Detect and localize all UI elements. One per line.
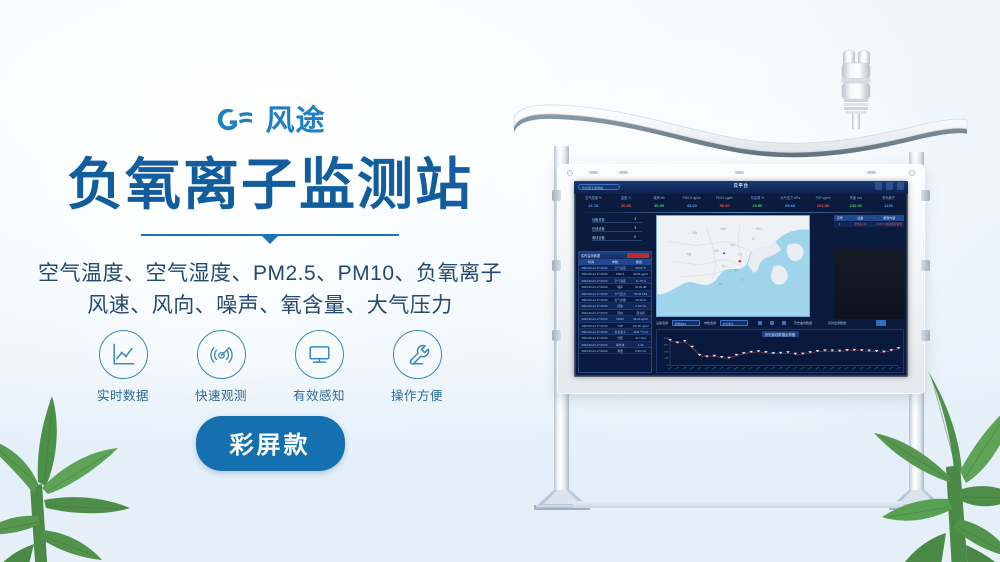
svg-text:1875: 1875 [664, 345, 669, 347]
metric-card: 风速 m/s230.00 [839, 195, 872, 212]
cloud-platform-dashboard: 负氧离子监测站 云平台 空气湿度 %41.78温度 ℃30.56噪声 dB40.… [574, 181, 908, 377]
svg-text:08:00: 08:00 [727, 367, 732, 370]
device-stat-row: 在线设备3 [592, 226, 642, 232]
metrics-divider [577, 212, 905, 213]
svg-text:0: 0 [667, 365, 668, 367]
table-cell: 99.66 KPa [630, 291, 651, 296]
table-cell: 2023-06-21 17:30:00 [579, 278, 610, 283]
svg-text:07:00: 07:00 [719, 367, 724, 370]
china-map[interactable]: 新疆内蒙古 西藏青海 山西山东 四川湖北 广东云南 辽宁黑龙江 [656, 215, 810, 317]
table-cell: 2023-06-21 17:30:00 [579, 284, 610, 289]
table-cell: 30.56 ℃ [630, 265, 651, 270]
metric-label: PM2.5 ug/m³ [675, 195, 708, 202]
param-select-label: 参数选择 [704, 321, 716, 325]
metric-label: PM10 ug/m³ [708, 195, 741, 202]
svg-text:02:00: 02:00 [682, 367, 687, 370]
metric-value: 99.66 [774, 202, 807, 210]
svg-text:00:00: 00:00 [668, 367, 673, 370]
table-cell: 氧气含量 [610, 297, 631, 302]
dashboard-header: 负氧离子监测站 云平台 [574, 181, 908, 194]
svg-text:19:00: 19:00 [808, 367, 813, 370]
metric-label: 噪声 dB [643, 195, 676, 202]
table-cell: 2023-06-21 17:30:00 [579, 310, 610, 315]
table-cell: 1.20 [630, 342, 651, 347]
decorative-leaves-left [0, 366, 158, 562]
export-data-button[interactable] [627, 253, 649, 257]
metric-value: 41.78 [577, 202, 610, 210]
table-cell: 雨量 [610, 348, 631, 353]
toolbar-icon-3[interactable] [897, 182, 904, 190]
range-radio-week[interactable] [770, 321, 774, 325]
metric-value: 101.00 [807, 202, 840, 210]
metric-value: 230.00 [839, 202, 872, 210]
metric-value: 56.00 [708, 202, 741, 210]
svg-text:1250: 1250 [664, 352, 669, 354]
table-cell: 西北风 [630, 310, 651, 315]
metric-value: 43.00 [675, 202, 708, 210]
legend-realtime: 实时监测数据 [828, 321, 846, 325]
table-cell: 紫外线 [610, 342, 631, 347]
svg-text:16:00: 16:00 [786, 367, 791, 370]
monitor-screen-icon [295, 330, 344, 379]
table-body: 2023-06-21 17:30:00空气温度30.56 ℃2023-06-21… [579, 265, 651, 372]
metric-card: 负氧离子1196 [872, 195, 905, 212]
svg-text:625: 625 [665, 358, 669, 360]
param-select[interactable]: 负氧离子 [720, 320, 748, 326]
metric-card: PM10 ug/m³56.00 [708, 195, 741, 212]
svg-text:2500: 2500 [664, 338, 669, 340]
table-cell: 2023-06-21 17:30:00 [579, 303, 610, 308]
metric-label: 温度 ℃ [610, 195, 643, 202]
divider-triangle-icon [262, 236, 278, 244]
svg-text:12:00: 12:00 [756, 367, 761, 370]
metric-card: 氧含量 %20.90 [741, 195, 774, 212]
alert-column-header: 序号 [834, 215, 846, 221]
station-tag[interactable]: 负氧离子监测站 [578, 184, 620, 190]
table-cell: 空气温度 [610, 265, 631, 270]
svg-text:20:00: 20:00 [815, 367, 820, 370]
toolbar-icon-2[interactable] [886, 182, 893, 190]
metric-card: 空气湿度 %41.78 [577, 195, 610, 212]
feature-item-effective-sensing[interactable]: 有效感知 [286, 330, 352, 404]
page-title: 负氧离子监测站 [0, 155, 540, 214]
subtitle-line-1: 空气温度、空气湿度、PM2.5、PM10、负氧离子 [0, 258, 540, 290]
title-divider [0, 234, 540, 244]
device-stat-row: 设备总数3 [592, 217, 642, 223]
svg-text:01:00: 01:00 [675, 367, 680, 370]
svg-text:03:00: 03:00 [690, 367, 695, 370]
metric-card: 温度 ℃30.56 [610, 195, 643, 212]
table-cell: 101.00 ug/m³ [630, 323, 651, 328]
wrench-icon [393, 330, 442, 379]
table-cell: 11.7 klux [630, 335, 651, 340]
svg-text:05:00: 05:00 [704, 367, 709, 370]
metric-label: 大气压力 KPa [774, 195, 807, 202]
svg-text:15:00: 15:00 [778, 367, 783, 370]
decorative-leaves-right [848, 357, 1000, 562]
feature-label: 有效感知 [293, 385, 345, 404]
toolbar-icon-1[interactable] [875, 182, 882, 190]
realtime-data-table: 实时监测数据 时间参数数值 2023-06-21 17:30:00空气温度30.… [578, 251, 652, 373]
feature-label: 操作方便 [391, 385, 443, 404]
table-cell: 1196 个/cm³ [630, 329, 651, 334]
table-cell: 2023-06-21 17:30:00 [579, 323, 610, 328]
metric-label: 风速 m/s [839, 195, 872, 202]
alerts-column-headers: 序号设备报警内容 [834, 215, 904, 221]
dashboard-screen[interactable]: 负氧离子监测站 云平台 空气湿度 %41.78温度 ℃30.56噪声 dB40.… [574, 181, 908, 377]
device-stat-row: 离线设备0 [592, 235, 642, 241]
alert-column-header: 报警内容 [875, 215, 904, 221]
wave-canopy [510, 98, 970, 168]
table-cell: TSP [610, 323, 631, 328]
table-cell: 0.00 mm [630, 348, 651, 353]
radar-signal-icon [197, 330, 246, 379]
svg-text:18:00: 18:00 [800, 367, 805, 370]
metric-cards-row: 空气湿度 %41.78温度 ℃30.56噪声 dB40.99PM2.5 ug/m… [577, 195, 905, 212]
metric-value: 20.90 [741, 202, 774, 210]
table-cell: PM2.5 [610, 271, 631, 276]
table-cell: 负氧离子 [610, 329, 631, 334]
table-cell: 空气湿度 [610, 278, 631, 283]
svg-text:21:00: 21:00 [822, 367, 827, 370]
metric-card: PM2.5 ug/m³43.00 [675, 195, 708, 212]
alert-cell: PM2.5 浓度超标报警 [875, 222, 904, 227]
table-cell: 43.00 ug/m³ [630, 271, 651, 276]
feature-label: 快速观测 [195, 385, 247, 404]
table-cell: 2023-06-21 17:30:00 [579, 265, 610, 270]
svg-text:23:00: 23:00 [837, 367, 842, 370]
metric-value: 1196 [872, 202, 905, 210]
alert-cell: 监测站 01 [846, 222, 875, 227]
table-cell: 2023-06-21 17:30:00 [579, 297, 610, 302]
svg-text:四川: 四川 [722, 265, 726, 268]
color-screen-model-button[interactable]: 彩屏款 [196, 416, 345, 471]
dashboard-toolbar [875, 182, 904, 190]
alert-row: 1监测站 01PM2.5 浓度超标报警 [834, 222, 904, 227]
metric-label: 氧含量 % [741, 195, 774, 202]
svg-text:09:00: 09:00 [734, 367, 739, 370]
table-cell: 风速 [610, 303, 631, 308]
cabinet-top-fittings [567, 169, 915, 176]
metric-label: 空气湿度 % [577, 195, 610, 202]
table-cell: 2023-06-21 17:30:00 [579, 271, 610, 276]
feature-item-easy-operation[interactable]: 操作方便 [384, 330, 450, 404]
svg-text:11:00: 11:00 [749, 367, 754, 370]
table-cell: 2023-06-21 17:30:00 [579, 291, 610, 296]
device-stats-panel: 设备总数3在线设备3离线设备0 [580, 217, 648, 247]
brand-logo: 风途 [0, 104, 540, 138]
svg-text:17:00: 17:00 [793, 367, 798, 370]
poster-stage: 风途 负氧离子监测站 空气温度、空气湿度、PM2.5、PM10、负氧离子 风速、… [0, 0, 1000, 562]
table-cell: 2.30 m/s [630, 303, 651, 308]
table-cell: 噪声 [610, 284, 631, 289]
table-cell: PM10 [610, 316, 631, 321]
table-cell: 40.99 dB [630, 284, 651, 289]
range-radio-month[interactable] [782, 321, 786, 325]
table-cell: 2023-06-21 17:30:00 [579, 329, 610, 334]
map-controls-bar: 设备选择 监测站01 参数选择 负氧离子 历史曲线数据 实时监测数据 [656, 319, 886, 328]
table-row[interactable]: 2023-06-21 17:30:00雨量0.00 mm [579, 348, 651, 354]
table-cell: 2023-06-21 17:30:00 [579, 342, 610, 347]
table-cell: 20.90 % [630, 297, 651, 302]
metric-value: 40.99 [643, 202, 676, 210]
table-cell: 56.00 ug/m³ [630, 316, 651, 321]
alert-column-header: 设备 [846, 215, 875, 221]
hero-subtitle: 空气温度、空气湿度、PM2.5、PM10、负氧离子 风速、风向、噪声、氧含量、大… [0, 258, 540, 322]
camera-feed-panel [834, 249, 904, 319]
table-title: 实时监测数据 [581, 253, 600, 258]
metric-card: 噪声 dB40.99 [643, 195, 676, 212]
table-cell: 光照 [610, 335, 631, 340]
svg-text:13:00: 13:00 [763, 367, 768, 370]
metric-label: 负氧离子 [872, 195, 905, 202]
svg-text:04:00: 04:00 [697, 367, 702, 370]
feature-item-fast-observation[interactable]: 快速观测 [188, 330, 254, 404]
legend-history: 历史曲线数据 [794, 321, 812, 325]
svg-text:22:00: 22:00 [830, 367, 835, 370]
metric-label: TSP ug/m³ [807, 195, 840, 202]
svg-text:10:00: 10:00 [741, 367, 746, 370]
svg-text:14:00: 14:00 [771, 367, 776, 370]
svg-text:06:00: 06:00 [712, 367, 717, 370]
subtitle-line-2: 风速、风向、噪声、氧含量、大气压力 [0, 290, 540, 322]
wind-swoosh-g-icon [214, 104, 256, 138]
alerts-panel: 序号设备报警内容 1监测站 01PM2.5 浓度超标报警 [834, 215, 904, 247]
alert-cell: 1 [834, 222, 846, 227]
device-select-label: 设备选择 [656, 321, 668, 325]
metric-value: 30.56 [610, 202, 643, 210]
brand-name: 风途 [265, 107, 325, 136]
table-header: 实时监测数据 [579, 252, 651, 259]
query-button[interactable] [876, 320, 886, 326]
table-cell: 2023-06-21 17:30:00 [579, 348, 610, 353]
range-radio-day[interactable] [758, 321, 762, 325]
table-cell: 2023-06-21 17:30:00 [579, 335, 610, 340]
table-cell: 2023-06-21 17:30:00 [579, 316, 610, 321]
dashboard-title: 云平台 [733, 183, 748, 189]
table-cell: 41.78 % [630, 278, 651, 283]
device-select[interactable]: 监测站01 [672, 320, 700, 326]
station-tag-label: 负氧离子监测站 [582, 186, 603, 190]
table-cell: 大气压力 [610, 291, 631, 296]
metric-card: TSP ug/m³101.00 [807, 195, 840, 212]
metric-card: 大气压力 KPa99.66 [774, 195, 807, 212]
table-cell: 风向 [610, 310, 631, 315]
